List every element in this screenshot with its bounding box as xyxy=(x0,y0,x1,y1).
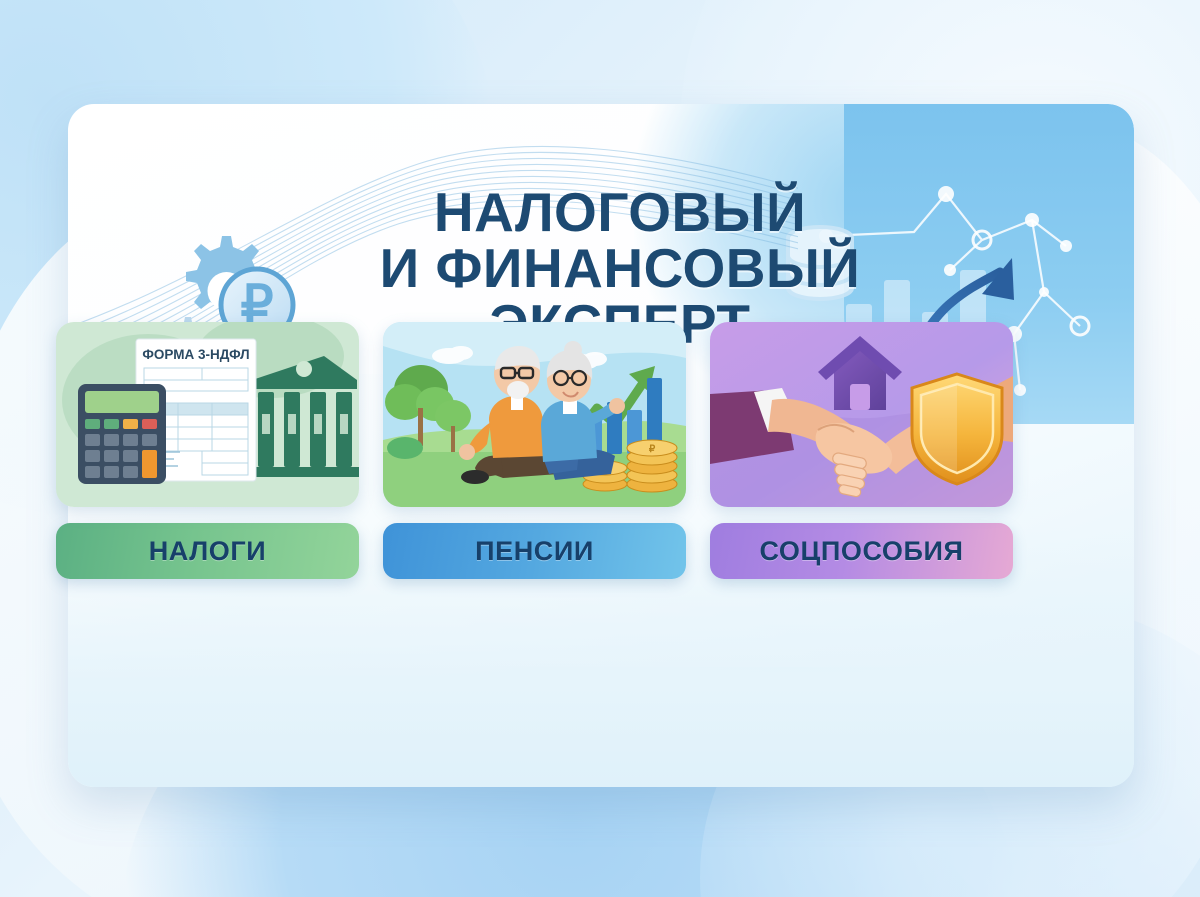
svg-text:₽: ₽ xyxy=(649,444,656,455)
calculator-icon xyxy=(78,384,166,484)
category-tiles: ФОРМА 3-НДФЛ xyxy=(56,322,1014,579)
svg-text:ФОРМА 3-НДФЛ: ФОРМА 3-НДФЛ xyxy=(142,347,249,362)
button-pensions[interactable]: ПЕНСИИ xyxy=(383,523,686,579)
title-line-2: И ФИНАНСОВЫЙ xyxy=(300,240,940,296)
button-social-benefits[interactable]: СОЦПОСОБИЯ xyxy=(710,523,1013,579)
title-line-1: НАЛОГОВЫЙ xyxy=(300,184,940,240)
tile-pensions: ₽ ₽ xyxy=(383,322,686,579)
thumb-social-benefits[interactable] xyxy=(710,322,1013,507)
shield-icon xyxy=(912,374,1002,484)
poster-canvas: ₽ ₽ xyxy=(0,0,1200,897)
social-benefits-illustration xyxy=(710,322,1013,507)
tile-social-benefits: СОЦПОСОБИЯ xyxy=(710,322,1013,579)
thumb-pensions[interactable]: ₽ ₽ xyxy=(383,322,686,507)
pensions-illustration: ₽ ₽ xyxy=(383,322,686,507)
tile-taxes: ФОРМА 3-НДФЛ xyxy=(56,322,359,579)
button-taxes[interactable]: НАЛОГИ xyxy=(56,523,359,579)
thumb-taxes[interactable]: ФОРМА 3-НДФЛ xyxy=(56,322,359,507)
taxes-illustration: ФОРМА 3-НДФЛ xyxy=(56,322,359,507)
